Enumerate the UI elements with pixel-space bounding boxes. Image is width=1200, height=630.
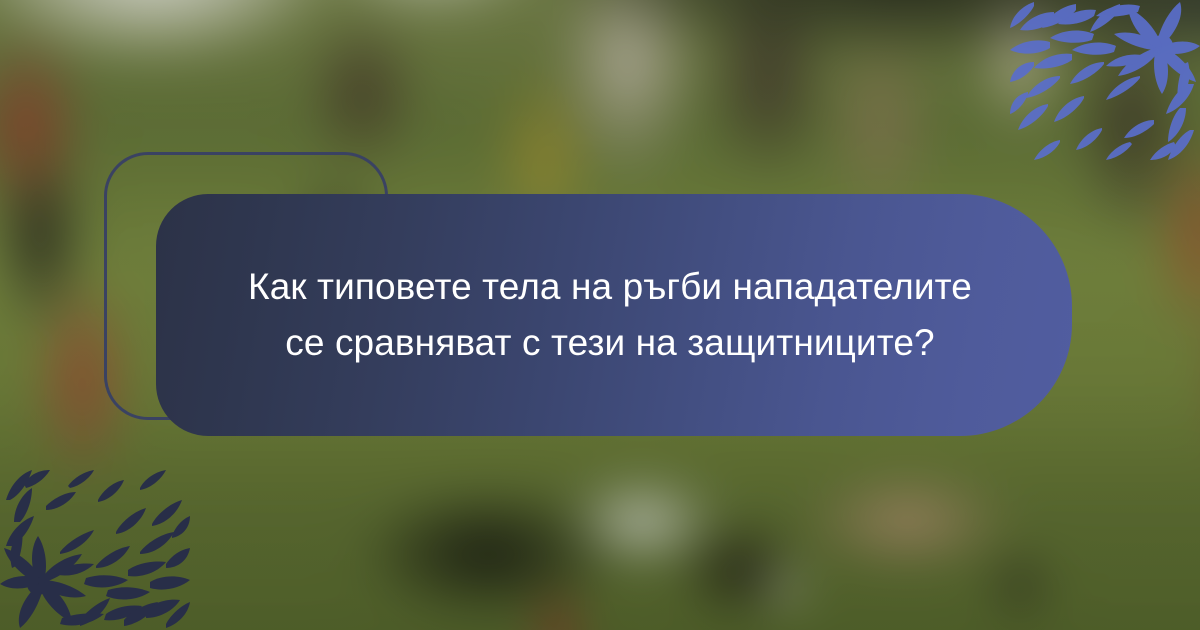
quote-card: Как типовете тела на ръгби нападателите … bbox=[156, 194, 1072, 436]
quote-text: Как типовете тела на ръгби нападателите … bbox=[230, 259, 990, 371]
social-quote-card-image: Как типовете тела на ръгби нападателите … bbox=[0, 0, 1200, 630]
